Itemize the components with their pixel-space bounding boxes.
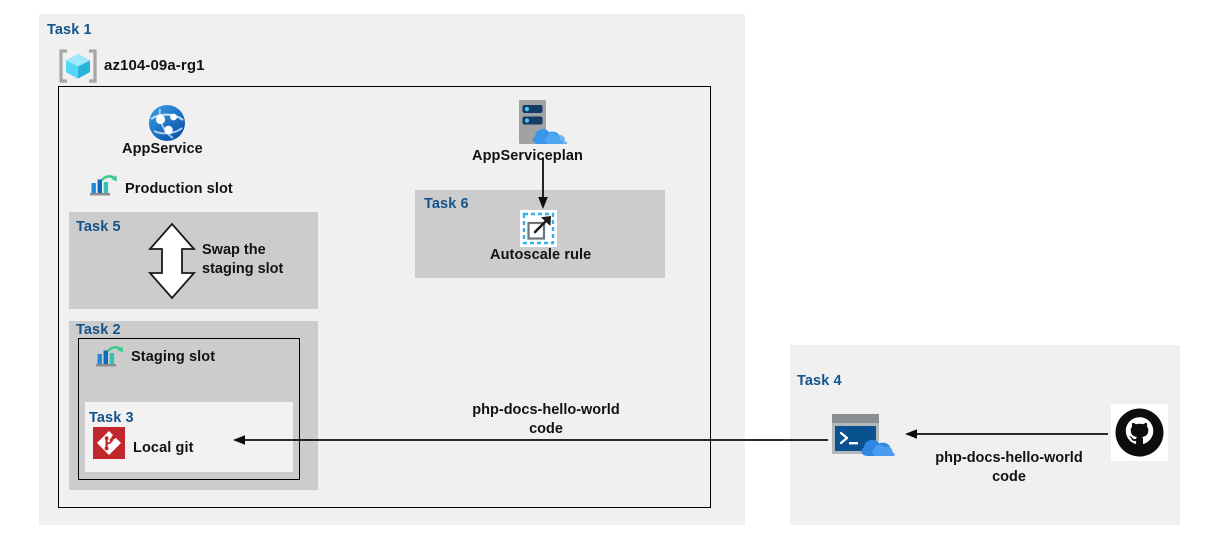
git-icon	[93, 427, 125, 459]
task5-swap-line2: staging slot	[202, 261, 283, 277]
staging-slot-label: Staging slot	[131, 349, 215, 365]
cloud-shell-icon	[832, 414, 902, 459]
task6-label: Task 6	[424, 196, 469, 212]
github-arrow-label-line2: code	[992, 469, 1026, 485]
center-arrow-label-line1: php-docs-hello-world	[472, 402, 619, 418]
task3-label: Task 3	[89, 410, 134, 426]
github-arrow-label-line1: php-docs-hello-world	[935, 450, 1082, 466]
app-service-label: AppService	[122, 141, 203, 157]
deployment-slot-icon	[89, 174, 119, 198]
diagram-canvas: Task 1 az104-09a-rg1	[0, 0, 1218, 545]
center-arrow-label: php-docs-hello-world code	[461, 401, 631, 439]
up-down-swap-arrow-icon	[143, 222, 201, 300]
resource-group-icon	[58, 49, 98, 83]
app-service-globe-icon	[148, 104, 186, 142]
task5-swap-text: Swap the staging slot	[202, 241, 283, 279]
autoscale-rule-label: Autoscale rule	[490, 247, 591, 263]
task5-swap-line1: Swap the	[202, 242, 266, 258]
task4-label: Task 4	[797, 373, 842, 389]
task2-label: Task 2	[76, 322, 121, 338]
app-service-plan-label: AppServiceplan	[472, 148, 583, 164]
resource-group-name: az104-09a-rg1	[104, 57, 205, 74]
center-arrow-label-line2: code	[529, 421, 563, 437]
production-slot-label: Production slot	[125, 181, 233, 197]
autoscale-arrow-icon	[520, 210, 557, 247]
github-arrow-label: php-docs-hello-world code	[923, 449, 1095, 487]
local-git-label: Local git	[133, 440, 194, 456]
github-octocat-icon	[1111, 404, 1168, 461]
task1-label: Task 1	[47, 22, 92, 38]
task5-label: Task 5	[76, 219, 121, 235]
app-service-plan-icon	[512, 99, 574, 146]
deployment-slot-icon	[95, 345, 125, 369]
